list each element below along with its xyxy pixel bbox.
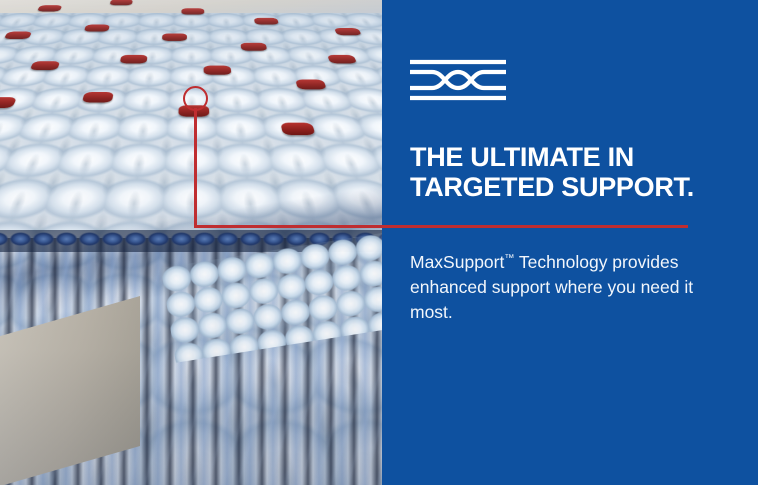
content-panel: THE ULTIMATE IN TARGETED SUPPORT. MaxSup… <box>382 0 758 485</box>
mattress-coil-photo <box>0 0 382 485</box>
advertisement-banner: THE ULTIMATE IN TARGETED SUPPORT. MaxSup… <box>0 0 758 485</box>
page-title: THE ULTIMATE IN TARGETED SUPPORT. <box>410 142 740 202</box>
trademark-symbol: ™ <box>504 253 514 264</box>
callout-vertical-line <box>194 108 197 228</box>
headline-line-2: TARGETED SUPPORT. <box>410 172 740 202</box>
headline-line-1: THE ULTIMATE IN <box>410 142 634 172</box>
callout-horizontal-line <box>194 225 688 228</box>
body-copy: MaxSupport™ Technology provides enhanced… <box>410 250 700 325</box>
product-name: MaxSupport <box>410 252 504 272</box>
wave-lines-logo <box>410 58 506 102</box>
